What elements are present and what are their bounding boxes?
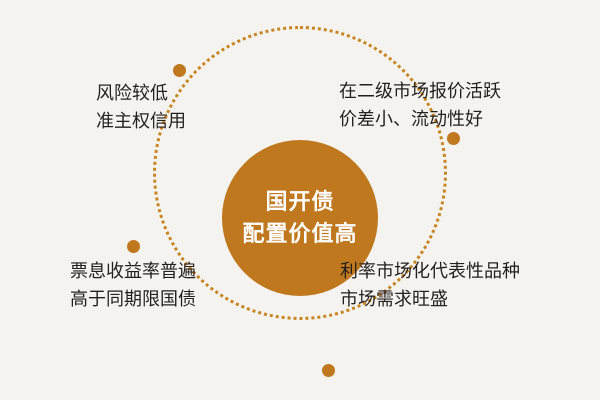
node-label-top-left-line2: 准主权信用	[96, 108, 186, 136]
center-label-line1: 国开债	[265, 186, 334, 218]
node-label-bottom-right-line2: 市场需求旺盛	[340, 286, 520, 314]
node-label-bottom-left: 票息收益率普遍 高于同期限国债	[70, 258, 196, 314]
node-label-bottom-left-line1: 票息收益率普遍	[70, 258, 196, 286]
node-label-bottom-right-line1: 利率市场化代表性品种	[340, 258, 520, 286]
node-dot-top-right	[447, 132, 460, 145]
node-label-top-left-line1: 风险较低	[96, 80, 186, 108]
node-label-bottom-right: 利率市场化代表性品种 市场需求旺盛	[340, 258, 520, 314]
node-dot-top-left	[173, 64, 186, 77]
circular-diagram: 国开债 配置价值高 风险较低 准主权信用 在二级市场报价活跃 价差小、流动性好 …	[0, 0, 600, 400]
node-label-top-right: 在二级市场报价活跃 价差小、流动性好	[339, 78, 501, 134]
node-label-top-left: 风险较低 准主权信用	[96, 80, 186, 136]
node-label-top-right-line1: 在二级市场报价活跃	[339, 78, 501, 106]
node-dot-bottom-right	[322, 364, 335, 377]
node-dot-bottom-left	[127, 240, 140, 253]
center-label-line2: 配置价值高	[242, 218, 357, 250]
node-label-top-right-line2: 价差小、流动性好	[339, 106, 501, 134]
node-label-bottom-left-line2: 高于同期限国债	[70, 286, 196, 314]
